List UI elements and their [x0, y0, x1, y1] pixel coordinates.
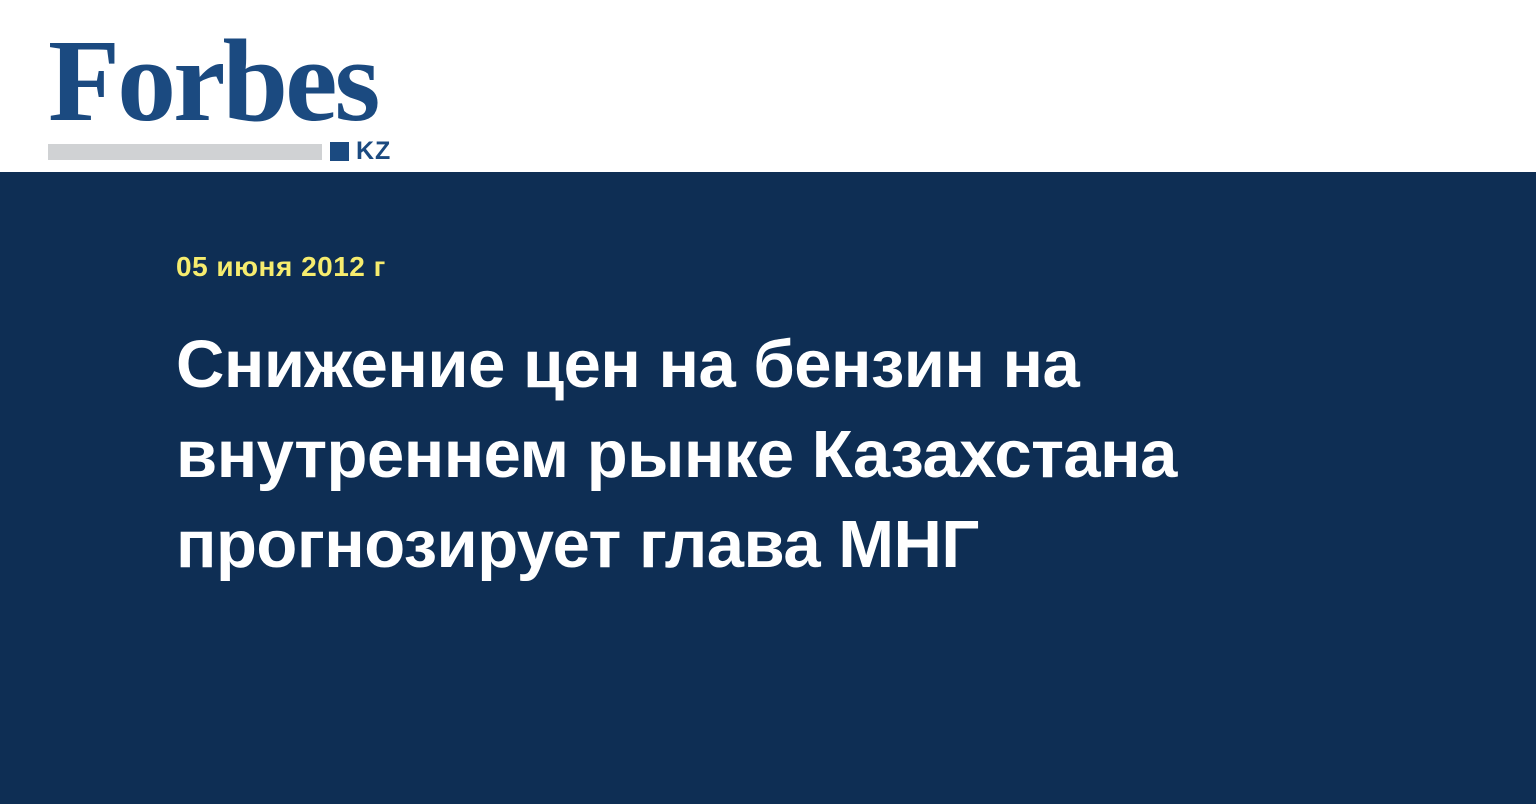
- article-hero-banner: 05 июня 2012 г Снижение цен на бензин на…: [0, 172, 1536, 804]
- article-page: Forbes KZ 05 июня 2012 г Снижение цен на…: [0, 0, 1536, 804]
- article-publish-date: 05 июня 2012 г: [176, 250, 1286, 284]
- logo-underline-bar: [48, 144, 322, 160]
- forbes-kz-logo[interactable]: Forbes KZ: [48, 22, 408, 152]
- forbes-wordmark: Forbes: [48, 22, 377, 140]
- article-headline: Снижение цен на бензин на внутреннем рын…: [176, 320, 1286, 590]
- hero-content: 05 июня 2012 г Снижение цен на бензин на…: [176, 250, 1286, 590]
- site-header: Forbes KZ: [0, 0, 1536, 172]
- logo-kz-label: KZ: [356, 139, 391, 164]
- logo-square-icon: [330, 142, 349, 161]
